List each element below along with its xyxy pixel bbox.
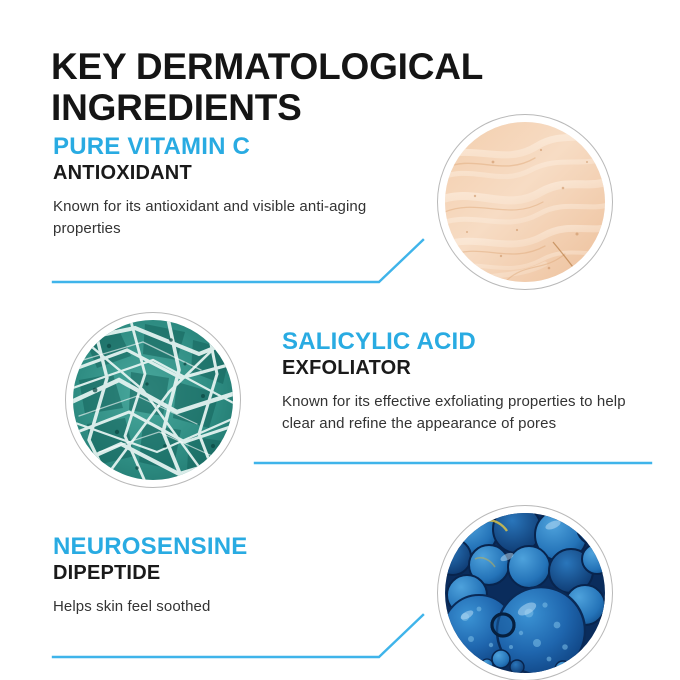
ingredient-description-vitamin-c: Known for its antioxidant and visible an… bbox=[53, 196, 383, 239]
ingredient-block-vitamin-c: PURE VITAMIN C ANTIOXIDANT Known for its… bbox=[53, 133, 383, 239]
connector-vitaminc bbox=[53, 240, 423, 282]
ingredient-description-salicylic-acid: Known for its effective exfoliating prop… bbox=[282, 391, 657, 434]
blue-oil-bubbles-photo bbox=[445, 513, 605, 673]
ingredient-name-vitamin-c: PURE VITAMIN C bbox=[53, 133, 383, 161]
image-disc-vitamin-c bbox=[445, 122, 605, 282]
ingredient-block-salicylic-acid: SALICYLIC ACID EXFOLIATOR Known for its … bbox=[282, 328, 657, 434]
ingredient-description-neurosensine: Helps skin feel soothed bbox=[53, 596, 383, 618]
teal-crystal-fibers-photo bbox=[73, 320, 233, 480]
ingredient-block-neurosensine: NEUROSENSINE DIPEPTIDE Helps skin feel s… bbox=[53, 533, 383, 618]
ingredient-name-salicylic-acid: SALICYLIC ACID bbox=[282, 328, 657, 356]
infographic-canvas: KEY DERMATOLOGICAL INGREDIENTS PURE VITA… bbox=[0, 0, 680, 680]
image-disc-salicylic-acid bbox=[73, 320, 233, 480]
cream-swirl-texture-photo bbox=[445, 122, 605, 282]
connector-neurosensine bbox=[53, 615, 423, 657]
image-disc-neurosensine bbox=[445, 513, 605, 673]
ingredient-role-salicylic-acid: EXFOLIATOR bbox=[282, 356, 657, 381]
ingredient-name-neurosensine: NEUROSENSINE bbox=[53, 533, 383, 561]
ingredient-role-neurosensine: DIPEPTIDE bbox=[53, 561, 383, 586]
ingredient-role-vitamin-c: ANTIOXIDANT bbox=[53, 161, 383, 186]
